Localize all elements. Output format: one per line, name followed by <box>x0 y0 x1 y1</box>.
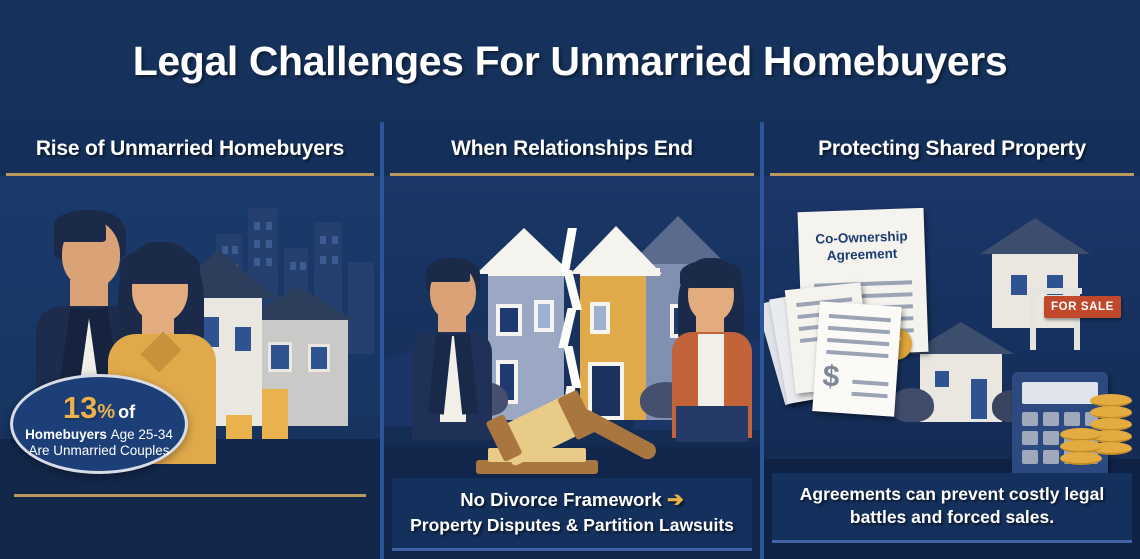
infographic-root: Legal Challenges For Unmarried Homebuyer… <box>0 0 1140 559</box>
panel-protecting-shared-property: Protecting Shared Property FOR SALE <box>760 122 1140 559</box>
caption-text-no-divorce-framework: No Divorce Framework <box>460 489 662 510</box>
for-sale-sign: FOR SALE <box>1044 296 1121 318</box>
panel-3-caption-line-1: Agreements can prevent costly legal <box>778 483 1126 505</box>
panel-3-caption-line-2: battles and forced sales. <box>778 506 1126 528</box>
panel-3-title: Protecting Shared Property <box>818 137 1086 161</box>
panel-when-relationships-end: When Relationships End <box>380 122 760 559</box>
panel-2-caption-line-2: Property Disputes & Partition Lawsuits <box>398 514 746 536</box>
stat-of-word: of <box>118 402 135 423</box>
for-sale-label: FOR SALE <box>1051 301 1114 313</box>
bush-icon <box>890 388 934 422</box>
page-title: Legal Challenges For Unmarried Homebuyer… <box>133 38 1007 85</box>
panels-container: Rise of Unmarried Homebuyers <box>0 122 1140 559</box>
panel-3-header: Protecting Shared Property <box>764 122 1140 176</box>
person-woman-illustration <box>666 258 758 433</box>
stat-percent-symbol: % <box>97 401 115 424</box>
gavel-icon <box>470 404 670 488</box>
stat-homebuyers-label: Homebuyers <box>25 427 107 442</box>
title-bar: Legal Challenges For Unmarried Homebuyer… <box>0 0 1140 122</box>
panel-2-illustration: No Divorce Framework ➔ Property Disputes… <box>384 176 760 559</box>
stat-badge: 13 % of Homebuyers Age 25-34 Are Unmarri… <box>10 374 188 474</box>
stat-tertiary-line: Are Unmarried Couples <box>28 443 169 458</box>
stat-secondary-line: Homebuyers Age 25-34 <box>25 427 173 442</box>
panel-2-caption: No Divorce Framework ➔ Property Disputes… <box>392 478 752 551</box>
panel-3-caption: Agreements can prevent costly legal batt… <box>772 473 1132 543</box>
stat-age-range: Age 25-34 <box>111 427 173 442</box>
stat-number: 13 <box>63 390 97 426</box>
dollar-sign-icon: $ <box>821 360 840 395</box>
panel-2-caption-line-1: No Divorce Framework ➔ <box>398 488 746 514</box>
panel-1-title: Rise of Unmarried Homebuyers <box>36 137 344 161</box>
panel-2-header: When Relationships End <box>384 122 760 176</box>
panel-1-illustration: 13 % of Homebuyers Age 25-34 Are Unmarri… <box>0 176 380 559</box>
panel-1-header: Rise of Unmarried Homebuyers <box>0 122 380 176</box>
panel-1-baseline-rule <box>14 494 366 497</box>
arrow-right-icon: ➔ <box>667 489 684 511</box>
panel-rise-of-unmarried-homebuyers: Rise of Unmarried Homebuyers <box>0 122 380 559</box>
stat-primary-line: 13 % of <box>63 390 135 426</box>
document-title: Co-Ownership Agreement <box>798 228 925 266</box>
panel-3-illustration: FOR SALE <box>764 176 1140 559</box>
panel-2-title: When Relationships End <box>451 137 693 161</box>
